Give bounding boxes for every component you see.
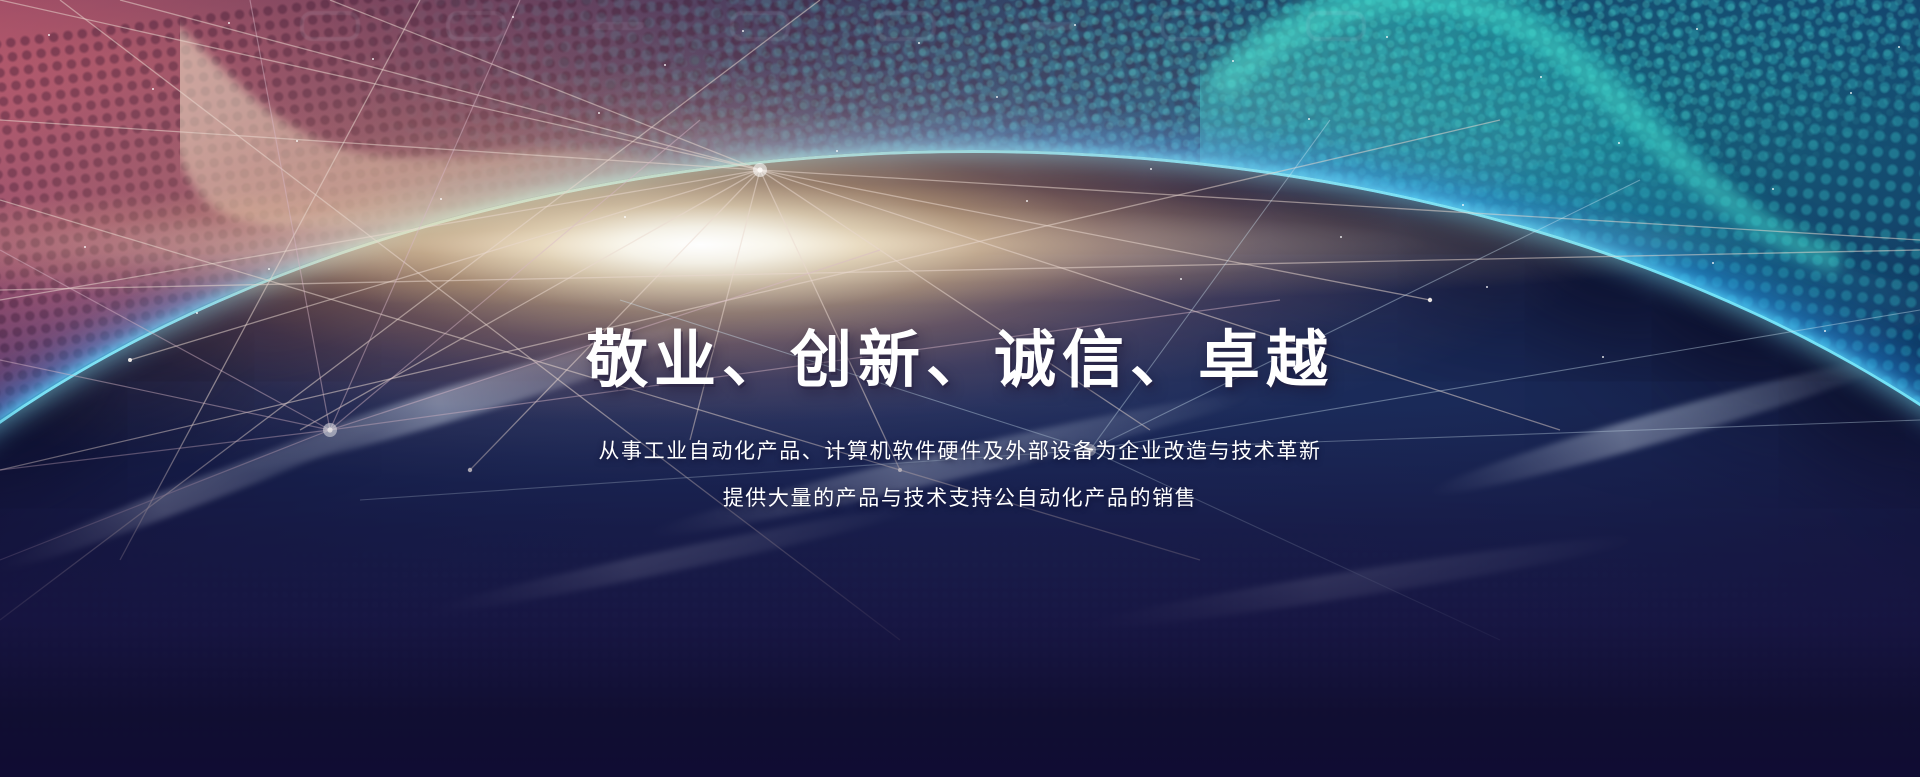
banner-headline: 敬业、创新、诚信、卓越 bbox=[586, 326, 1334, 395]
banner-subtitle-line-2: 提供大量的产品与技术支持公自动化产品的销售 bbox=[723, 488, 1198, 509]
banner-subtitle-line-1: 从事工业自动化产品、计算机软件硬件及外部设备为企业改造与技术革新 bbox=[598, 441, 1321, 462]
banner-content: 敬业、创新、诚信、卓越 从事工业自动化产品、计算机软件硬件及外部设备为企业改造与… bbox=[0, 0, 1920, 777]
hero-banner: 敬业、创新、诚信、卓越 从事工业自动化产品、计算机软件硬件及外部设备为企业改造与… bbox=[0, 0, 1920, 777]
